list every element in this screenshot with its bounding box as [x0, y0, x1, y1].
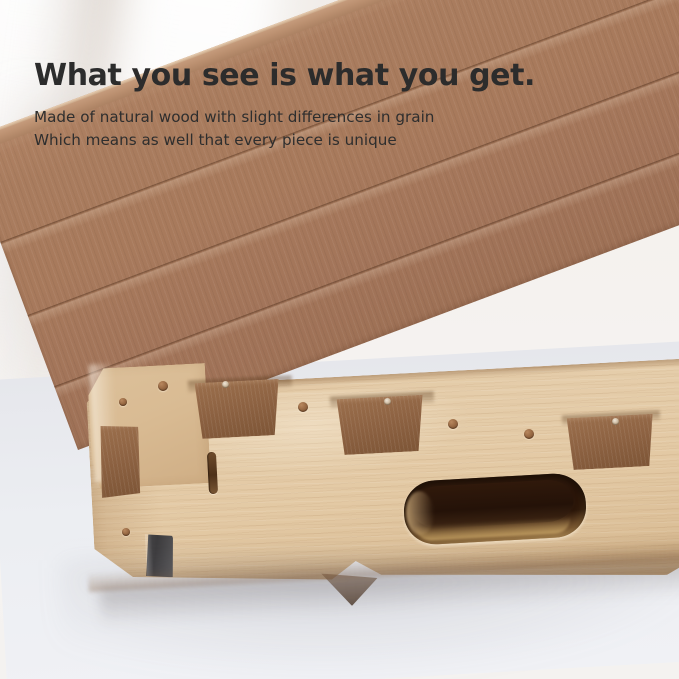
screw-head-4 — [448, 419, 458, 429]
screw-head-2 — [158, 381, 168, 391]
screw-head-6 — [122, 528, 130, 536]
product-photo-stage: What you see is what you get. Made of na… — [0, 0, 679, 679]
subtitle-line-2: Which means as well that every piece is … — [34, 129, 594, 152]
headline: What you see is what you get. — [34, 58, 594, 93]
hinge-bracket-2 — [337, 395, 426, 455]
subtitle-line-1: Made of natural wood with slight differe… — [34, 106, 594, 129]
handle-cutout — [402, 472, 587, 546]
screw-head-8 — [384, 398, 391, 405]
floor-soft-shadow — [60, 560, 679, 679]
hinge-bracket-left — [98, 424, 142, 498]
screw-head-1 — [119, 398, 127, 406]
hinge-bracket-3 — [567, 414, 656, 470]
screw-head-3 — [298, 402, 308, 412]
slat-seam-3 — [54, 120, 679, 389]
screw-head-7 — [222, 381, 229, 388]
slat-highlight-3 — [55, 123, 679, 399]
marketing-text-block: What you see is what you get. Made of na… — [34, 58, 594, 153]
screw-head-9 — [612, 418, 619, 425]
hinge-bracket-1 — [195, 379, 282, 439]
screw-head-5 — [524, 429, 534, 439]
